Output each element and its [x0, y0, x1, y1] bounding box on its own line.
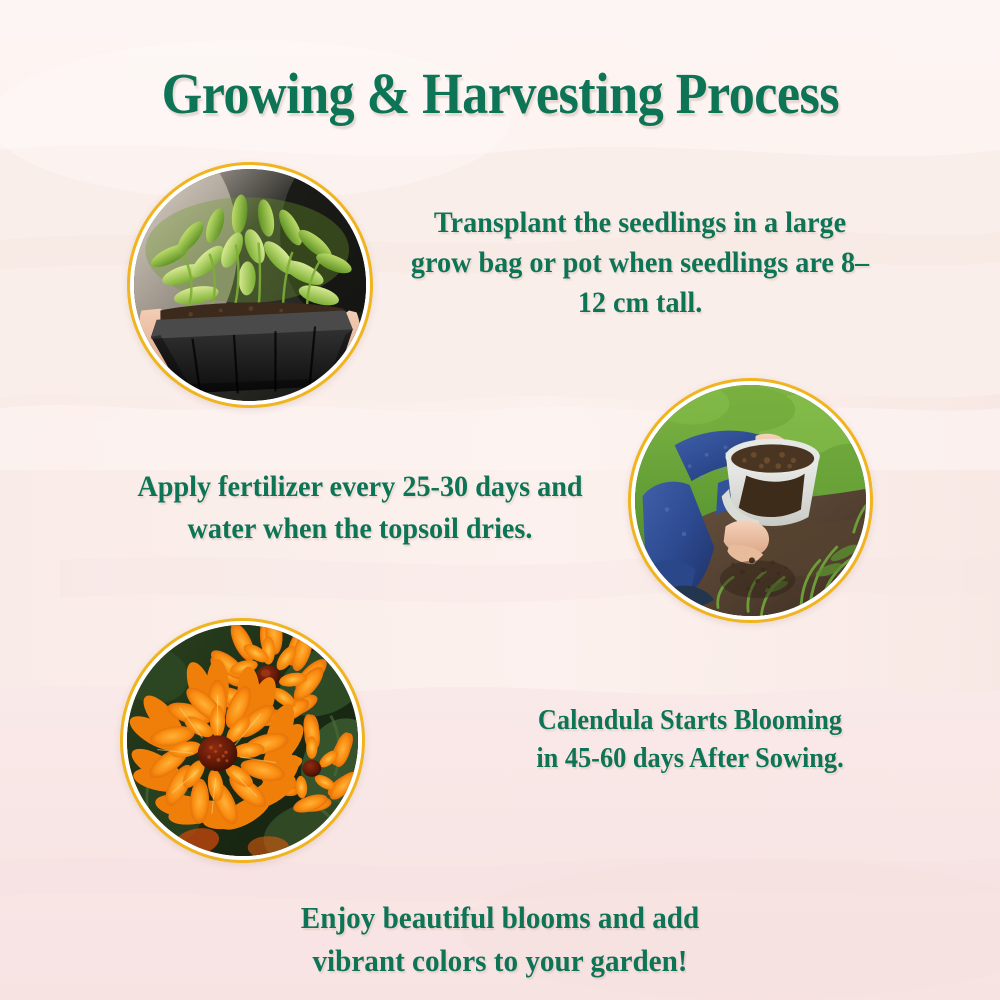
footer-text: Enjoy beautiful blooms and add vibrant c…	[233, 896, 767, 982]
step-text-line: in 45-60 days After Sowing.	[479, 740, 900, 778]
step-text-line: Apply fertilizer every 25-30 days and	[102, 466, 617, 508]
step-text-fertilizer: Apply fertilizer every 25-30 days and wa…	[102, 466, 617, 550]
photo-frame-flowers	[120, 618, 365, 863]
footer-text-line: Enjoy beautiful blooms and add	[233, 896, 767, 939]
photo-frame-fertilizer	[628, 378, 873, 623]
page-title: Growing & Harvesting Process	[0, 62, 1000, 126]
photo-frame-seedlings	[127, 162, 373, 408]
step-text-line: grow bag or pot when seedlings are 8–	[401, 243, 879, 283]
hands-holding-seedling-tray-photo	[134, 169, 366, 401]
step-text-line: Calendula Starts Blooming	[479, 702, 900, 740]
page-title-text: Growing & Harvesting Process	[161, 62, 838, 126]
infographic-poster: Growing & Harvesting Process	[0, 0, 1000, 1000]
step-text-line: Transplant the seedlings in a large	[401, 203, 879, 243]
step-text-line: water when the topsoil dries.	[102, 508, 617, 550]
person-spreading-fertilizer-photo	[635, 385, 866, 616]
orange-calendula-flowers-photo	[127, 625, 358, 856]
step-text-blooming: Calendula Starts Blooming in 45-60 days …	[479, 702, 900, 778]
step-text-line: 12 cm tall.	[401, 283, 879, 323]
footer-text-line: vibrant colors to your garden!	[233, 939, 767, 982]
step-text-transplant: Transplant the seedlings in a large grow…	[401, 203, 879, 323]
